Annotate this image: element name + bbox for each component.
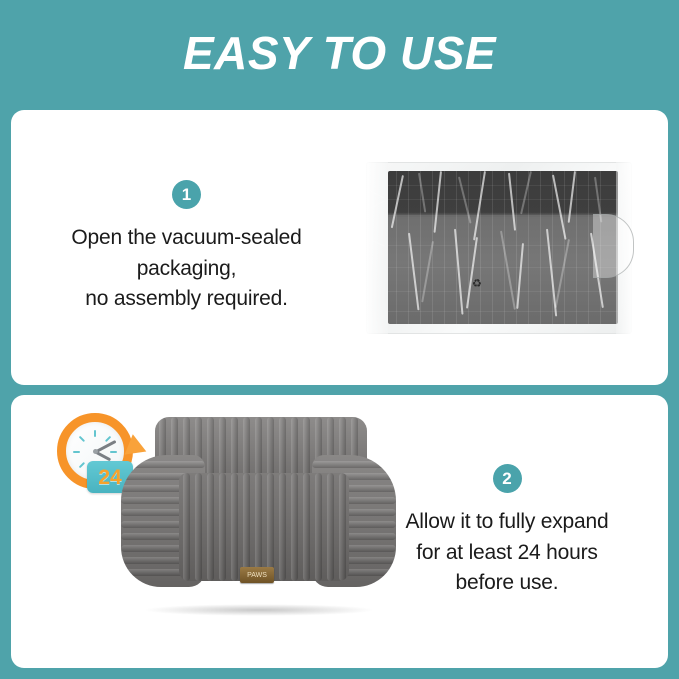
compressed-product: ♻ [388,171,618,324]
step-1-line-3: no assembly required. [71,284,301,314]
step-2-media-column: 24 [11,395,368,668]
step-2-line-3: before use. [406,568,609,598]
easy-to-use-infographic: EASY TO USE 1 Open the vacuum-sealed pac… [0,0,679,679]
step-card-1: 1 Open the vacuum-sealed packaging, no a… [11,110,668,385]
step-1-text-column: 1 Open the vacuum-sealed packaging, no a… [11,180,356,314]
header-banner: EASY TO USE [0,0,679,110]
step-2-text-column: 2 Allow it to fully expand for at least … [368,464,668,598]
step-1-number-badge: 1 [172,180,201,209]
bed-seat-cushion [179,473,349,581]
step-2-description: Allow it to fully expand for at least 24… [406,507,609,598]
step-card-2: 24 [11,395,668,668]
expanded-pet-bed-photo: PAWS [121,417,396,622]
vacuum-sealed-package-photo: ♻ [366,162,632,334]
step-2-number-badge: 2 [493,464,522,493]
brand-leather-tag: PAWS [240,567,274,583]
clock-pivot [93,449,98,454]
recycle-icon: ♻ [472,279,483,290]
page-title: EASY TO USE [183,30,496,80]
step-2-line-2: for at least 24 hours [406,538,609,568]
step-1-line-1: Open the vacuum-sealed [71,223,301,253]
step-1-line-2: packaging, [71,254,301,284]
steps-container: 1 Open the vacuum-sealed packaging, no a… [0,110,679,679]
bed-shadow [143,604,375,616]
24-hours-badge-label: 24 [98,467,121,488]
step-1-description: Open the vacuum-sealed packaging, no ass… [71,223,301,314]
step-2-line-1: Allow it to fully expand [406,507,609,537]
bag-edge-left [366,162,388,334]
step-1-media-column: ♻ [356,110,668,385]
